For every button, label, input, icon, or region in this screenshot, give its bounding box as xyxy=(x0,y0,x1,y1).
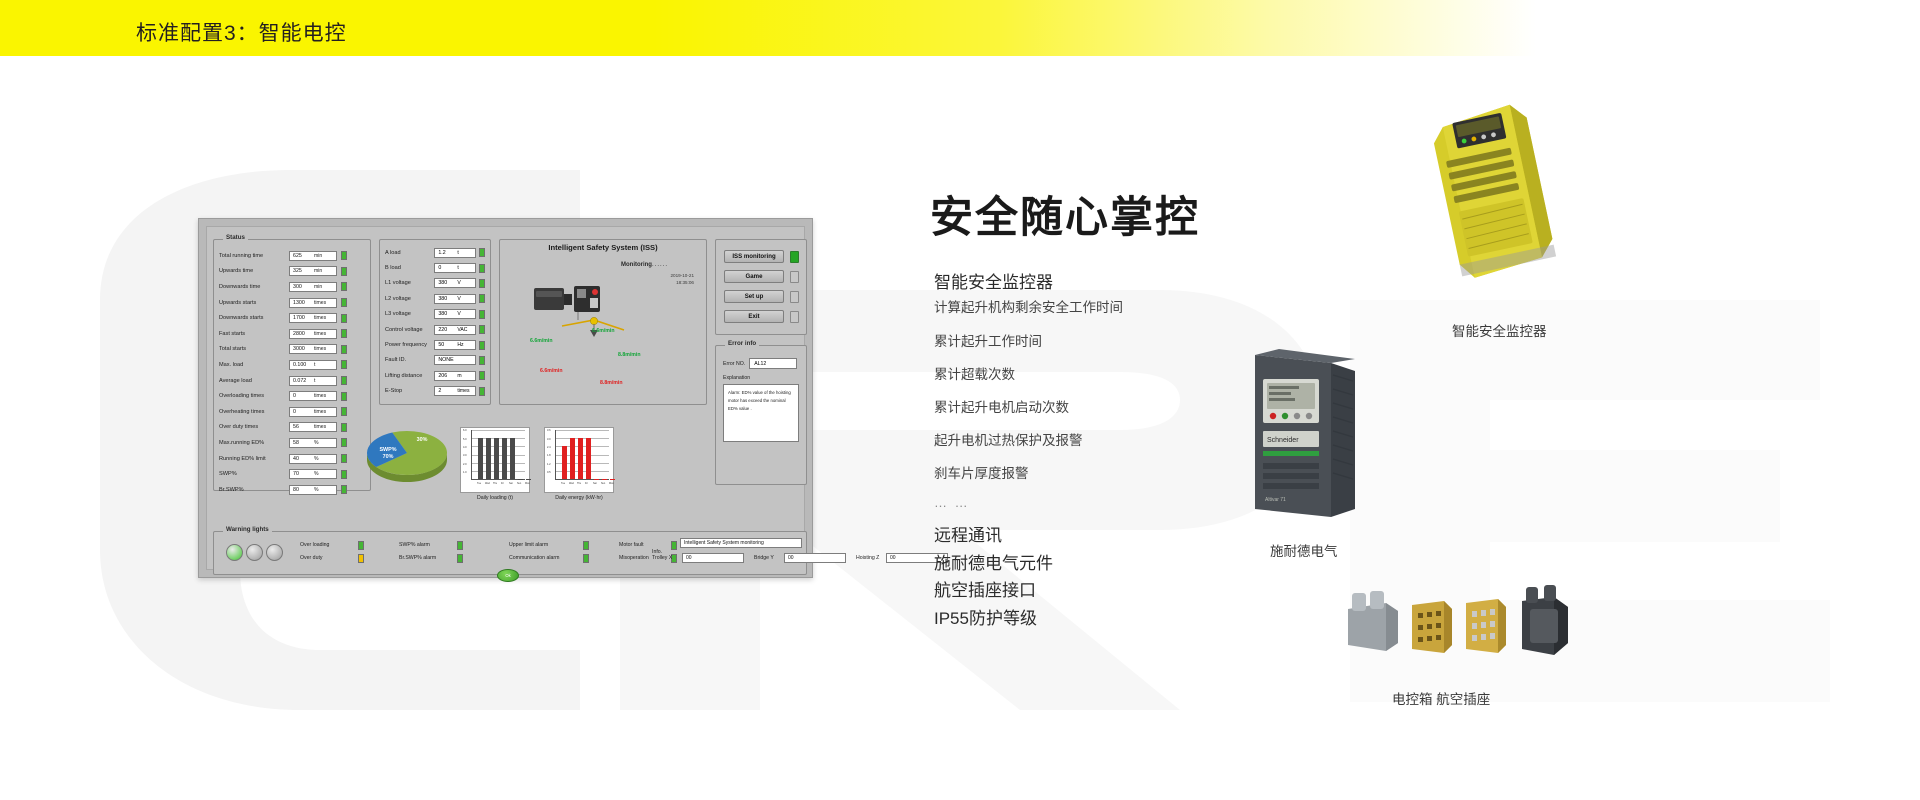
parameter-row-field[interactable]: 2times xyxy=(434,386,476,396)
status-row-label: Downwards starts xyxy=(219,315,289,321)
monitoring-text: Monitoring xyxy=(621,262,652,268)
status-row: Upwards time325min xyxy=(219,264,365,280)
status-row-value: 40 xyxy=(290,456,314,462)
status-row-value: 325 xyxy=(290,268,314,274)
status-row-value: 625 xyxy=(290,253,314,259)
aviation-connectors-image xyxy=(1340,585,1590,665)
parameter-row-field[interactable]: 0t xyxy=(434,263,476,273)
chart-bar xyxy=(578,438,583,479)
monitoring-date: 2019-10-21 xyxy=(671,273,695,280)
parameter-row-label: L1 voltage xyxy=(385,280,434,286)
status-row-led xyxy=(341,360,347,369)
status-row-label: Running ED% limit xyxy=(219,456,289,462)
daily-energy-plot: TueWedThuFriSatSunMon3.63.02.41.81.20.5 xyxy=(547,430,611,480)
status-row-value: 1700 xyxy=(290,315,314,321)
status-row-unit: % xyxy=(314,487,319,493)
hmi-button-led xyxy=(790,291,799,303)
status-row: Fast starts2800times xyxy=(219,326,365,342)
parameter-row-unit: V xyxy=(457,311,460,317)
status-row-field[interactable]: 325min xyxy=(289,266,337,276)
hmi-button-led xyxy=(790,251,799,263)
feature-item: 累计起升工作时间 xyxy=(934,330,1264,350)
status-row-led xyxy=(341,407,347,416)
status-row-label: Upwards time xyxy=(219,268,289,274)
parameter-row-led xyxy=(479,294,485,303)
x-axis-tick: Wed xyxy=(485,482,490,485)
x-axis-tick: Thu xyxy=(577,482,581,485)
safety-relay-image xyxy=(1424,100,1564,290)
status-row-value: 58 xyxy=(290,440,314,446)
error-info-group: Error info Error NO. AL12 Explanation Al… xyxy=(715,345,807,485)
parameter-row-field[interactable]: 380V xyxy=(434,278,476,288)
daily-loading-chart: TueWedThuFriSatSunMon6.05.04.03.02.01.0 … xyxy=(460,427,530,493)
status-row-value: 0.072 xyxy=(290,378,314,384)
parameter-row-value: 206 xyxy=(435,373,457,379)
monitoring-dots: ...... xyxy=(652,262,668,268)
status-row-label: Upwards starts xyxy=(219,300,289,306)
monitoring-group: Intelligent Safety System (ISS) Monitori… xyxy=(499,239,707,405)
status-row: Max.running ED%58% xyxy=(219,435,365,451)
page-headline: 安全随心掌控 xyxy=(930,183,1200,245)
x-axis-tick: Sun xyxy=(601,482,605,485)
status-row-unit: times xyxy=(314,300,326,306)
explanation-label: Explanation xyxy=(723,375,799,381)
parameter-row-unit: VAC xyxy=(457,327,467,333)
parameter-row-label: Control voltage xyxy=(385,327,434,333)
chart-bar xyxy=(562,446,567,479)
y-axis-tick: 3.0 xyxy=(547,438,551,441)
parameter-row: Fault ID.NONE xyxy=(385,353,485,368)
parameter-row-led xyxy=(479,356,485,365)
parameter-row-led xyxy=(479,264,485,273)
parameter-row-unit: m xyxy=(457,373,461,379)
status-row-label: Max.running ED% xyxy=(219,440,289,446)
aviation-connectors-caption: 电控箱 航空插座 xyxy=(1392,688,1490,708)
status-row-label: Fast starts xyxy=(219,331,289,337)
warning-item-label: SWP% alarm xyxy=(399,542,430,548)
parameter-row-value: NONE xyxy=(435,357,457,363)
parameter-row: E-Stop2times xyxy=(385,384,485,399)
status-row-field[interactable]: 56times xyxy=(289,422,337,432)
status-row-field[interactable]: 625min xyxy=(289,251,337,261)
parameter-row-field[interactable]: 380V xyxy=(434,309,476,319)
x-axis-tick: Thu xyxy=(493,482,497,485)
status-row: Running ED% limit40% xyxy=(219,451,365,467)
status-row-label: Over duty times xyxy=(219,424,289,430)
feature-list: 智能安全监控器 计算起升机构剩余安全工作时间累计起升工作时间累计超载次数累计起升… xyxy=(934,268,1264,632)
parameter-row-label: A load xyxy=(385,250,434,256)
feature-item: 起升电机过热保护及报警 xyxy=(934,429,1264,449)
pie-slice-label-1: 30% xyxy=(411,437,433,444)
y-axis-tick: 3.0 xyxy=(463,454,467,457)
warning-item-led xyxy=(671,541,677,550)
banner-title: 标准配置3：智能电控 xyxy=(136,17,347,47)
status-row-label: Overloading times xyxy=(219,393,289,399)
y-axis-tick: 1.8 xyxy=(547,454,551,457)
status-row-unit: times xyxy=(314,346,326,352)
status-group-label: Status xyxy=(223,234,248,241)
status-row: Upwards starts1300times xyxy=(219,295,365,311)
status-row-field[interactable]: 0.072t xyxy=(289,376,337,386)
status-row-field[interactable]: 0times xyxy=(289,391,337,401)
parameter-row-label: L3 voltage xyxy=(385,311,434,317)
feature-tail-item: IP55防护等级 xyxy=(934,605,1264,633)
hmi-button-set-up[interactable]: Set up xyxy=(724,290,784,303)
status-row-unit: % xyxy=(314,471,319,477)
error-no-label: Error NO. xyxy=(723,361,745,367)
parameter-row-unit: t xyxy=(457,250,458,256)
svg-text:Schneider: Schneider xyxy=(1267,437,1299,444)
status-row: Over duty times56times xyxy=(219,420,365,436)
parameter-row-label: E-Stop xyxy=(385,388,434,394)
speed-label-3: 8.8m/min xyxy=(618,352,641,358)
chart-bar xyxy=(570,438,575,479)
status-row: Overloading times0times xyxy=(219,388,365,404)
error-info-label: Error info xyxy=(725,340,759,347)
speed-label-4: 6.6m/min xyxy=(540,368,563,374)
status-row-value: 1300 xyxy=(290,300,314,306)
parameter-row: A load1.2t xyxy=(385,245,485,260)
warning-lamp-1 xyxy=(246,544,263,561)
status-row-led xyxy=(341,314,347,323)
parameter-row-field[interactable]: 220VAC xyxy=(434,325,476,335)
warning-lights-label: Warning lights xyxy=(223,526,272,533)
explanation-text: Alarm: ED% value of the hoisting motor h… xyxy=(723,384,799,442)
status-row-led xyxy=(341,376,347,385)
status-row-led xyxy=(341,438,347,447)
status-row-field[interactable]: 40% xyxy=(289,454,337,464)
status-row-field[interactable]: 3000times xyxy=(289,344,337,354)
status-row-label: Average load xyxy=(219,378,289,384)
info-value[interactable]: Intelligent Safety System monitoring xyxy=(680,538,802,548)
warning-lamp-2 xyxy=(266,544,283,561)
y-axis-tick: 2.0 xyxy=(463,463,467,466)
status-row-unit: times xyxy=(314,393,326,399)
pie-slice-label-0: SWP%70% xyxy=(371,447,405,461)
parameter-row-unit: t xyxy=(457,265,458,271)
parameter-row: Power frequency50Hz xyxy=(385,337,485,352)
chart-bar xyxy=(486,438,491,479)
speed-label-1: 6.6m/min xyxy=(530,338,553,344)
chart-gridlines: TueWedThuFriSatSunMon xyxy=(471,430,525,480)
status-group: Status Total running time625minUpwards t… xyxy=(213,239,371,491)
daily-energy-caption: Daily energy (kW·hr) xyxy=(545,495,613,501)
parameter-row: L3 voltage380V xyxy=(385,307,485,322)
schneider-drive-caption: 施耐德电气 xyxy=(1270,540,1338,560)
parameter-row-unit: times xyxy=(457,388,469,394)
status-row-label: Total starts xyxy=(219,346,289,352)
axis-value[interactable]: 00 xyxy=(784,553,846,563)
feature-item: 计算起升机构剩余安全工作时间 xyxy=(934,296,1264,316)
warning-item-label: Over loading xyxy=(300,542,329,548)
x-axis-tick: Tue xyxy=(477,482,481,485)
x-axis-tick: Sat xyxy=(593,482,597,485)
parameter-row-led xyxy=(479,341,485,350)
status-row-unit: times xyxy=(314,331,326,337)
status-row-label: SWP% xyxy=(219,471,289,477)
status-row-value: 0 xyxy=(290,393,314,399)
parameter-row-led xyxy=(479,279,485,288)
axis-label: Trolley X xyxy=(652,555,672,561)
status-row-led xyxy=(341,329,347,338)
parameters-group: A load1.2tB load0tL1 voltage380VL2 volta… xyxy=(379,239,491,405)
axis-label: Hoisting Z xyxy=(856,555,879,561)
hmi-button-led xyxy=(790,311,799,323)
status-row-value: 300 xyxy=(290,284,314,290)
status-row-label: Downwards time xyxy=(219,284,289,290)
status-row-field[interactable]: 2800times xyxy=(289,329,337,339)
parameter-row-value: 380 xyxy=(435,296,457,302)
status-row-led xyxy=(341,251,347,260)
status-row-led xyxy=(341,392,347,401)
hmi-button-game[interactable]: Game xyxy=(724,270,784,283)
status-row-label: Total running time xyxy=(219,253,289,259)
status-row-field[interactable]: 0times xyxy=(289,407,337,417)
schneider-drive-image: Schneider Altivar 71 xyxy=(1235,345,1375,530)
parameter-row-led xyxy=(479,248,485,257)
warning-item-label: Motor fault xyxy=(619,542,644,548)
feature-lead: 智能安全监控器 xyxy=(934,268,1264,293)
parameter-row-unit: Hz xyxy=(457,342,463,348)
speed-label-5: 8.8m/min xyxy=(600,380,623,386)
chart-gridlines: TueWedThuFriSatSunMon xyxy=(555,430,609,480)
status-row-label: Br.SWP% xyxy=(219,487,289,493)
feature-item: 刹车片厚度报警 xyxy=(934,462,1264,482)
error-no-value: AL12 xyxy=(749,358,797,369)
parameter-row-unit: V xyxy=(457,280,460,286)
daily-loading-caption: Daily loading (t) xyxy=(461,495,529,501)
parameter-row-value: 220 xyxy=(435,327,457,333)
status-row-led xyxy=(341,423,347,432)
x-axis-tick: Wed xyxy=(569,482,574,485)
parameter-row: Lifting distance206m xyxy=(385,368,485,383)
y-axis-tick: 0.5 xyxy=(547,471,551,474)
parameter-row-label: Fault ID. xyxy=(385,357,434,363)
status-row: Total starts3000times xyxy=(219,342,365,358)
page-banner: 标准配置3：智能电控 xyxy=(0,0,1920,56)
parameter-row-value: 380 xyxy=(435,280,457,286)
chart-bar xyxy=(494,438,499,479)
feature-item: 累计超载次数 xyxy=(934,363,1264,383)
status-row-led xyxy=(341,298,347,307)
status-row: Max. load0.100t xyxy=(219,357,365,373)
status-row-unit: times xyxy=(314,315,326,321)
status-row-label: Max. load xyxy=(219,362,289,368)
warning-item-label: Br.SWP% alarm xyxy=(399,555,436,561)
y-axis-tick: 5.0 xyxy=(463,438,467,441)
feature-tail-item: 航空插座接口 xyxy=(934,577,1264,605)
warning-item-led xyxy=(583,554,589,563)
status-row-unit: min xyxy=(314,253,322,259)
x-axis-tick: Sun xyxy=(517,482,521,485)
parameter-row-led xyxy=(479,325,485,334)
parameter-row-value: 1.2 xyxy=(435,250,457,256)
x-axis-tick: Fri xyxy=(585,482,588,485)
chart-bar xyxy=(478,438,483,479)
parameter-row-label: Lifting distance xyxy=(385,373,434,379)
status-row-value: 56 xyxy=(290,424,314,430)
warning-lamp-0 xyxy=(226,544,243,561)
axis-label: Bridge Y xyxy=(754,555,774,561)
hmi-button-led xyxy=(790,271,799,283)
parameter-row-value: 380 xyxy=(435,311,457,317)
x-axis-tick: Sat xyxy=(509,482,513,485)
parameter-row-label: L2 voltage xyxy=(385,296,434,302)
status-row: Downwards starts1700times xyxy=(219,310,365,326)
status-row-value: 0.100 xyxy=(290,362,314,368)
parameter-row-led xyxy=(479,310,485,319)
status-row-led xyxy=(341,345,347,354)
parameter-row-label: B load xyxy=(385,265,434,271)
y-axis-tick: 3.6 xyxy=(547,429,551,432)
warning-item-led xyxy=(358,554,364,563)
parameter-row-value: 2 xyxy=(435,388,457,394)
hmi-inner: Status Total running time625minUpwards t… xyxy=(206,226,805,570)
status-row: Total running time625min xyxy=(219,248,365,264)
warning-item-label: Over duty xyxy=(300,555,323,561)
monitoring-timestamp: 2019-10-21 18:35:06 xyxy=(671,273,695,287)
status-row-unit: min xyxy=(314,268,322,274)
feature-items: 计算起升机构剩余安全工作时间累计起升工作时间累计超载次数累计起升电机启动次数起升… xyxy=(934,296,1264,482)
parameter-row-led xyxy=(479,371,485,380)
hmi-title: Intelligent Safety System (ISS) xyxy=(500,243,706,252)
status-row: SWP%70% xyxy=(219,466,365,482)
status-row-value: 0 xyxy=(290,409,314,415)
hmi-button-iss-monitoring[interactable]: ISS monitoring xyxy=(724,250,784,263)
status-row-unit: t xyxy=(314,362,315,368)
warning-item-label: Communication alarm xyxy=(509,555,559,561)
x-axis-tick: Mon xyxy=(525,482,530,485)
parameter-row-field[interactable]: 206m xyxy=(434,371,476,381)
feature-tail-item: 施耐德电气元件 xyxy=(934,550,1264,578)
status-row-field[interactable]: 1300times xyxy=(289,298,337,308)
parameter-row-field[interactable]: NONE xyxy=(434,355,476,365)
y-axis-tick: 1.2 xyxy=(547,463,551,466)
status-row-value: 70 xyxy=(290,471,314,477)
warning-item-label: Upper limit alarm xyxy=(509,542,548,548)
chart-bar xyxy=(502,438,507,479)
chart-bar xyxy=(586,438,591,479)
feature-tail: 远程通讯施耐德电气元件航空插座接口IP55防护等级 xyxy=(934,522,1264,632)
status-row-unit: t xyxy=(314,378,315,384)
status-row: Average load0.072t xyxy=(219,373,365,389)
warning-item-led xyxy=(358,541,364,550)
status-row-field[interactable]: 1700times xyxy=(289,313,337,323)
status-row-field[interactable]: 0.100t xyxy=(289,360,337,370)
status-row-unit: min xyxy=(314,284,322,290)
status-row-unit: times xyxy=(314,409,326,415)
ok-button[interactable]: Ok xyxy=(497,569,519,582)
axis-value[interactable]: 00 xyxy=(682,553,744,563)
y-axis-tick: 6.0 xyxy=(463,429,467,432)
feature-ellipsis: … … xyxy=(934,495,1264,510)
safety-relay-caption: 智能安全监控器 xyxy=(1452,320,1547,340)
status-row-field[interactable]: 58% xyxy=(289,438,337,448)
status-row: Br.SWP%80% xyxy=(219,482,365,498)
status-row-unit: % xyxy=(314,440,319,446)
feature-item: 累计起升电机启动次数 xyxy=(934,396,1264,416)
hmi-screenshot-panel: Status Total running time625minUpwards t… xyxy=(198,218,813,578)
status-row-label: Overheating times xyxy=(219,409,289,415)
status-row-led xyxy=(341,282,347,291)
parameter-row: L1 voltage380V xyxy=(385,276,485,291)
x-axis-tick: Tue xyxy=(561,482,565,485)
status-row-field[interactable]: 300min xyxy=(289,282,337,292)
gridline xyxy=(556,430,609,431)
status-row-led xyxy=(341,267,347,276)
parameter-row-led xyxy=(479,387,485,396)
parameter-row-field[interactable]: 50Hz xyxy=(434,340,476,350)
status-row-led xyxy=(341,485,347,494)
parameter-rows: A load1.2tB load0tL1 voltage380VL2 volta… xyxy=(380,240,490,401)
speed-label-2: 6.6m/min xyxy=(592,328,615,334)
warning-item-label: Misoperation xyxy=(619,555,649,561)
status-row-field[interactable]: 70% xyxy=(289,469,337,479)
status-row-value: 80 xyxy=(290,487,314,493)
y-axis-tick: 1.0 xyxy=(463,471,467,474)
y-axis-tick: 4.0 xyxy=(463,446,467,449)
parameter-row-value: 0 xyxy=(435,265,457,271)
monitoring-time: 18:35:06 xyxy=(671,280,695,287)
warning-item-led xyxy=(583,541,589,550)
svg-text:Altivar 71: Altivar 71 xyxy=(1265,497,1286,503)
status-row-unit: % xyxy=(314,456,319,462)
chart-bar xyxy=(510,438,515,479)
swp-pie-chart: SWP%70% 30% xyxy=(359,423,455,485)
warning-item-led xyxy=(457,554,463,563)
status-row-led xyxy=(341,470,347,479)
parameter-row-field[interactable]: 1.2t xyxy=(434,248,476,258)
x-axis-tick: Fri xyxy=(501,482,504,485)
warning-item-led xyxy=(457,541,463,550)
x-axis-tick: Mon xyxy=(609,482,614,485)
parameter-row-unit: V xyxy=(457,296,460,302)
parameter-row: L2 voltage380V xyxy=(385,291,485,306)
daily-loading-plot: TueWedThuFriSatSunMon6.05.04.03.02.01.0 xyxy=(463,430,527,480)
parameter-row: B load0t xyxy=(385,260,485,275)
gridline xyxy=(472,430,525,431)
status-row: Downwards time300min xyxy=(219,279,365,295)
status-row-led xyxy=(341,454,347,463)
hmi-button-exit[interactable]: Exit xyxy=(724,310,784,323)
status-row-value: 3000 xyxy=(290,346,314,352)
status-row: Overheating times0times xyxy=(219,404,365,420)
parameter-row-label: Power frequency xyxy=(385,342,434,348)
parameter-row-field[interactable]: 380V xyxy=(434,294,476,304)
warning-lights-group: Warning lights Over loadingOver dutySWP%… xyxy=(213,531,807,575)
parameter-row-value: 50 xyxy=(435,342,457,348)
parameter-row: Control voltage220VAC xyxy=(385,322,485,337)
status-row-value: 2800 xyxy=(290,331,314,337)
status-rows: Total running time625minUpwards time325m… xyxy=(214,240,370,500)
daily-energy-chart: TueWedThuFriSatSunMon3.63.02.41.81.20.5 … xyxy=(544,427,614,493)
y-axis-tick: 2.4 xyxy=(547,446,551,449)
feature-tail-item: 远程通讯 xyxy=(934,522,1264,550)
button-group: ISS monitoringGameSet upExit xyxy=(715,239,807,335)
status-row-unit: times xyxy=(314,424,326,430)
status-row-field[interactable]: 80% xyxy=(289,485,337,495)
monitoring-label: Monitoring...... xyxy=(621,262,668,268)
